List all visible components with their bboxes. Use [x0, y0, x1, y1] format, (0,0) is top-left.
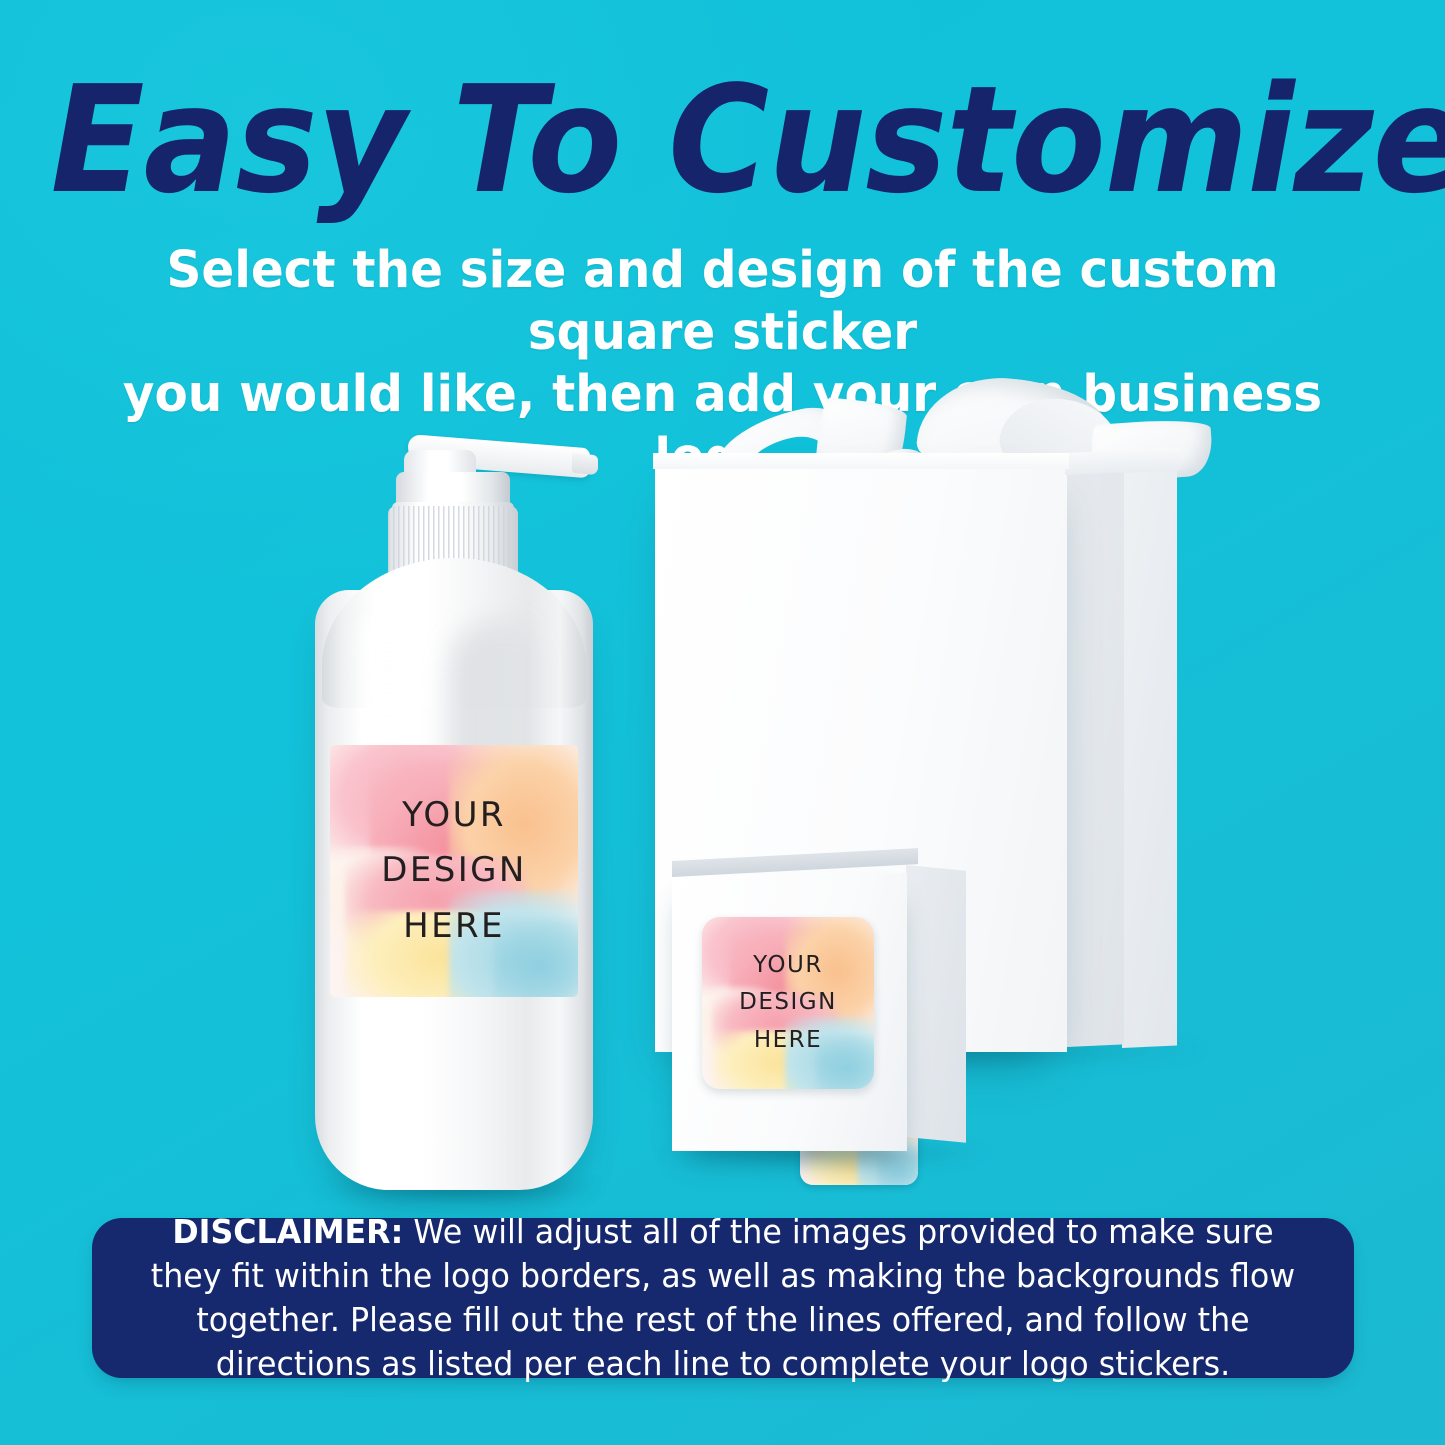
product-scene: YOUR DESIGN HERE YOUR DESIGN: [0, 380, 1445, 1210]
sticker-large: YOUR DESIGN HERE: [330, 745, 578, 997]
disclaimer-box: DISCLAIMER: We will adjust all of the im…: [92, 1218, 1354, 1378]
sticker-medium: YOUR DESIGN HERE: [702, 917, 874, 1089]
page-title: Easy To Customize: [51, 66, 1395, 214]
disclaimer-label: DISCLAIMER:: [172, 1212, 403, 1251]
gift-box-lid: [653, 453, 1069, 469]
disclaimer-text: DISCLAIMER: We will adjust all of the im…: [117, 1210, 1329, 1387]
sticker-line-2: DESIGN: [739, 984, 837, 1021]
sticker-line-2: DESIGN: [381, 843, 526, 898]
sticker-text: YOUR DESIGN HERE: [702, 917, 874, 1089]
pump-bottle: YOUR DESIGN HERE: [300, 410, 610, 1200]
sticker-line-1: YOUR: [753, 947, 823, 984]
sticker-text: YOUR DESIGN HERE: [330, 745, 578, 997]
sticker-line-1: YOUR: [402, 788, 506, 843]
subtitle-line-1: Select the size and design of the custom…: [166, 241, 1278, 362]
small-product-box: YOUR DESIGN HERE: [672, 865, 972, 1160]
promo-graphic: Easy To Customize Select the size and de…: [0, 0, 1445, 1445]
sticker-line-3: HERE: [754, 1022, 822, 1059]
gift-box-side-panel: [1067, 462, 1124, 1047]
sticker-line-3: HERE: [403, 899, 505, 954]
small-box-side-panel: [906, 865, 966, 1143]
pump-nozzle-tip: [572, 453, 598, 476]
gift-box-back-panel: [1122, 471, 1177, 1048]
